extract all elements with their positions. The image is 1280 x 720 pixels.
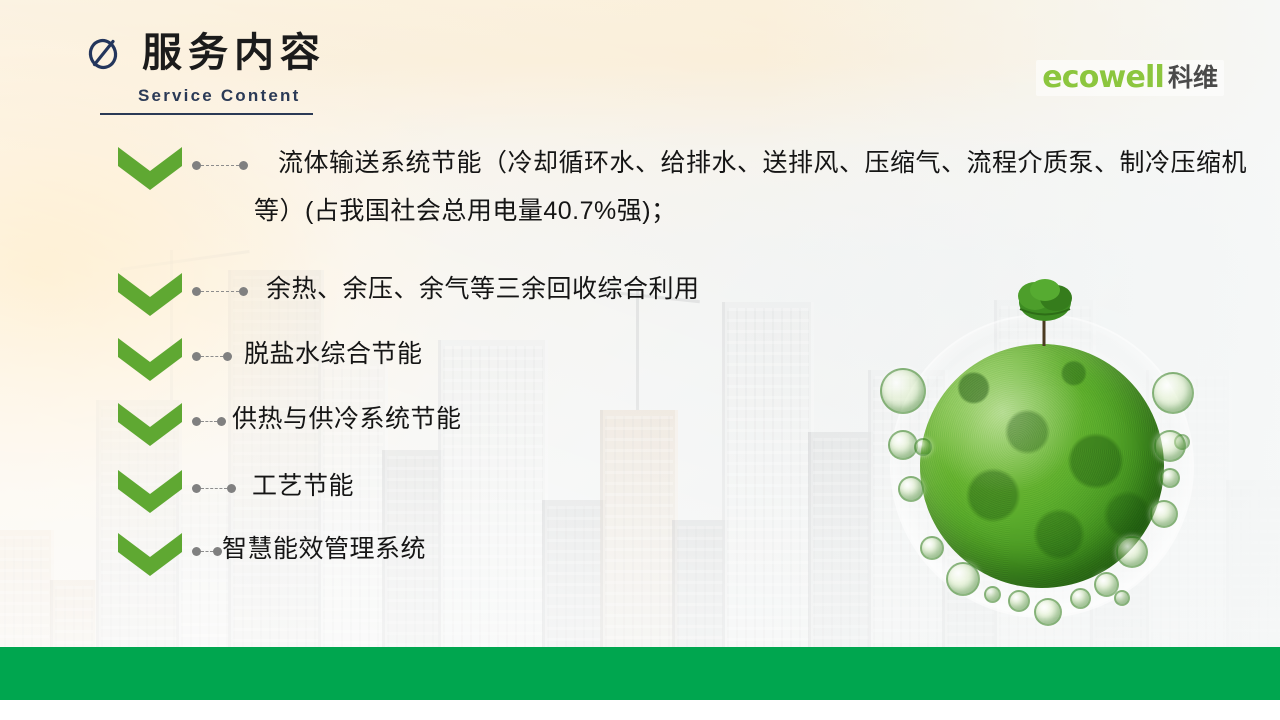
tree-icon <box>1008 276 1082 350</box>
bubble-icon <box>1114 590 1130 606</box>
list-item-label: 供热与供冷系统节能 <box>232 396 462 444</box>
list-item-label: 余热、余压、余气等三余回收综合利用 <box>266 266 700 314</box>
chevron-down-icon <box>116 270 184 316</box>
connector-line <box>186 142 254 188</box>
bubble-icon <box>1034 598 1062 626</box>
connector-line <box>186 528 228 574</box>
bubble-icon <box>920 536 944 560</box>
list-item[interactable]: 余热、余压、余气等三余回收综合利用 <box>116 268 700 316</box>
connector-line <box>186 268 254 314</box>
footer-bar <box>0 647 1280 700</box>
bubble-icon <box>914 438 932 456</box>
list-item[interactable]: 流体输送系统节能（冷却循环水、给排水、送排风、压缩气、流程介质泵、制冷压缩机等）… <box>116 142 1264 235</box>
bubble-icon <box>880 368 926 414</box>
footer-white-strip <box>0 700 1280 720</box>
list-item[interactable]: 脱盐水综合节能 <box>116 333 423 381</box>
list-item-label: 智慧能效管理系统 <box>222 526 426 574</box>
green-earth-illustration <box>862 268 1226 634</box>
bubble-icon <box>1008 590 1030 612</box>
bubble-icon <box>1160 468 1180 488</box>
list-item-label: 流体输送系统节能（冷却循环水、给排水、送排风、压缩气、流程介质泵、制冷压缩机等）… <box>254 140 1264 235</box>
connector-line <box>186 398 232 444</box>
connector-line <box>186 333 238 379</box>
bubble-icon <box>984 586 1001 603</box>
slide-canvas: 服务内容 Service Content ecowell 科维 流体输送系统节能… <box>0 0 1280 720</box>
list-item-label: 工艺节能 <box>252 463 354 511</box>
bubble-icon <box>1152 372 1194 414</box>
bubble-icon <box>898 476 924 502</box>
bubble-icon <box>1070 588 1091 609</box>
chevron-down-icon <box>116 530 184 576</box>
connector-line <box>186 465 242 511</box>
list-item[interactable]: 工艺节能 <box>116 465 354 513</box>
list-item[interactable]: 供热与供冷系统节能 <box>116 398 462 446</box>
bubble-icon <box>946 562 980 596</box>
chevron-down-icon <box>116 144 184 190</box>
bubble-icon <box>1150 500 1178 528</box>
bubble-icon <box>1154 430 1186 462</box>
list-item[interactable]: 智慧能效管理系统 <box>116 528 426 576</box>
list-item-label: 脱盐水综合节能 <box>244 331 423 379</box>
chevron-down-icon <box>116 467 184 513</box>
chevron-down-icon <box>116 400 184 446</box>
bubble-icon <box>1116 536 1148 568</box>
chevron-down-icon <box>116 335 184 381</box>
